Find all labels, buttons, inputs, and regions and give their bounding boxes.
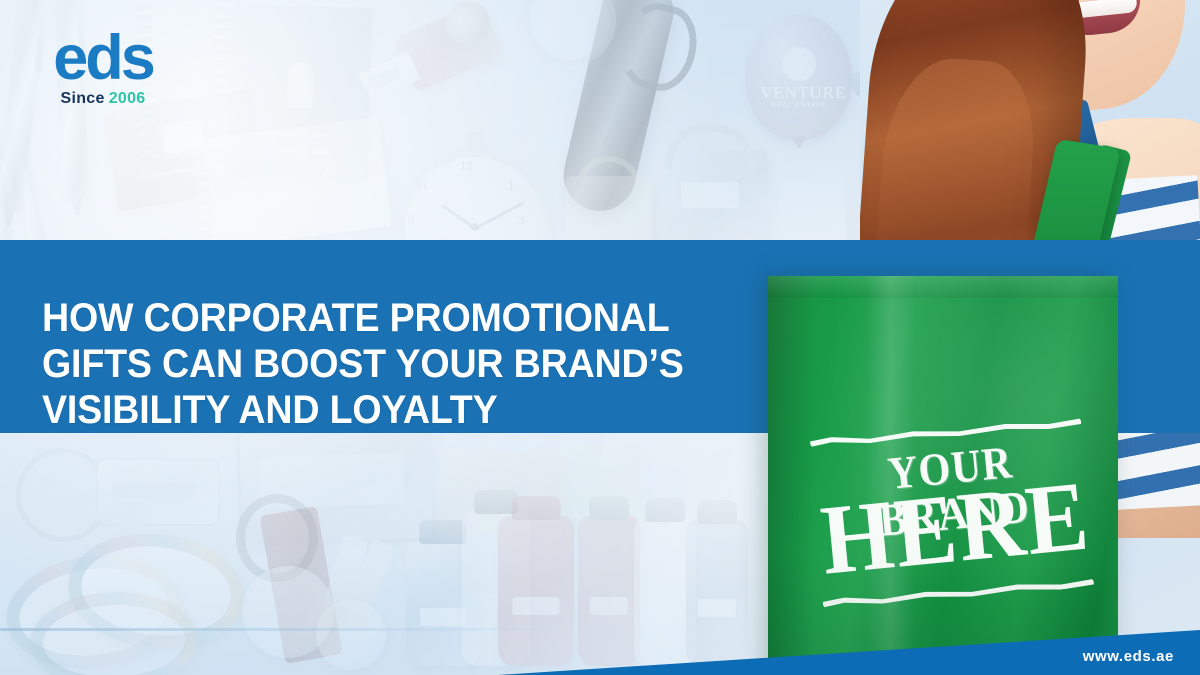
logo-tagline-year: 2006 xyxy=(109,90,146,107)
headline-line-1: HOW CORPORATE PROMOTIONAL xyxy=(42,295,700,341)
promotional-banner: VENTURE REAL ESTATE Hustle 12 1 xyxy=(0,0,1200,675)
page-title: HOW CORPORATE PROMOTIONAL GIFTS CAN BOOS… xyxy=(42,295,700,433)
headline-line-3: VISIBILITY AND LOYALTY xyxy=(42,387,700,433)
stamp-line-1: YOUR BRAND xyxy=(828,434,1076,548)
brand-stamp: YOUR BRAND HERE xyxy=(810,418,1091,609)
logo-tagline: Since2006 xyxy=(28,90,178,108)
eds-logo[interactable]: eds Since2006 xyxy=(28,28,178,108)
footer-hairline xyxy=(0,628,560,631)
tote-shadow xyxy=(768,276,814,675)
logo-tagline-word: Since xyxy=(61,90,105,107)
website-url[interactable]: www.eds.ae xyxy=(1083,648,1174,665)
stamp-line-2: HERE xyxy=(817,470,1089,586)
logo-wordmark: eds xyxy=(28,28,178,88)
headline-line-2: GIFTS CAN BOOST YOUR BRAND’S xyxy=(42,341,700,387)
tote-top-fold xyxy=(768,276,1118,298)
stamp-rule-bottom xyxy=(822,578,1094,608)
green-tote-bag: YOUR BRAND HERE xyxy=(768,276,1118,675)
stamp-rule-top xyxy=(810,417,1082,447)
